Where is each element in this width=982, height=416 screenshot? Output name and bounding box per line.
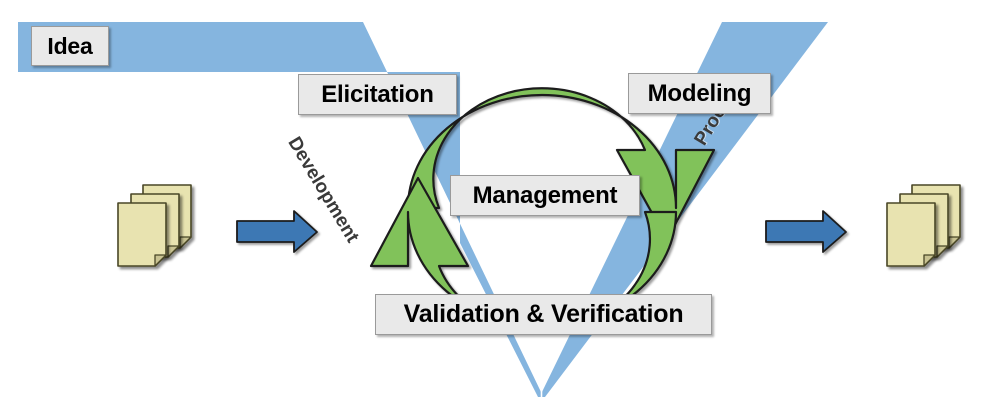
label-modeling-text: Modeling [648,80,752,108]
document-page-front [118,203,166,266]
label-idea: Idea [31,26,109,66]
label-elicitation: Elicitation [298,74,457,115]
label-validation-verification-text: Validation & Verification [404,300,684,329]
label-validation-verification: Validation & Verification [375,294,712,335]
label-elicitation-text: Elicitation [321,81,433,109]
label-management-text: Management [473,182,618,210]
document-page-front [887,203,935,266]
output-flow-arrow [766,211,846,252]
label-management: Management [450,175,640,216]
label-modeling: Modeling [628,73,771,114]
output-document-stack [887,185,960,266]
input-flow-arrow [237,211,317,252]
input-document-stack [118,185,191,266]
label-idea-text: Idea [47,33,92,60]
diagram-canvas: Idea Elicitation Modeling Management Val… [0,0,982,416]
